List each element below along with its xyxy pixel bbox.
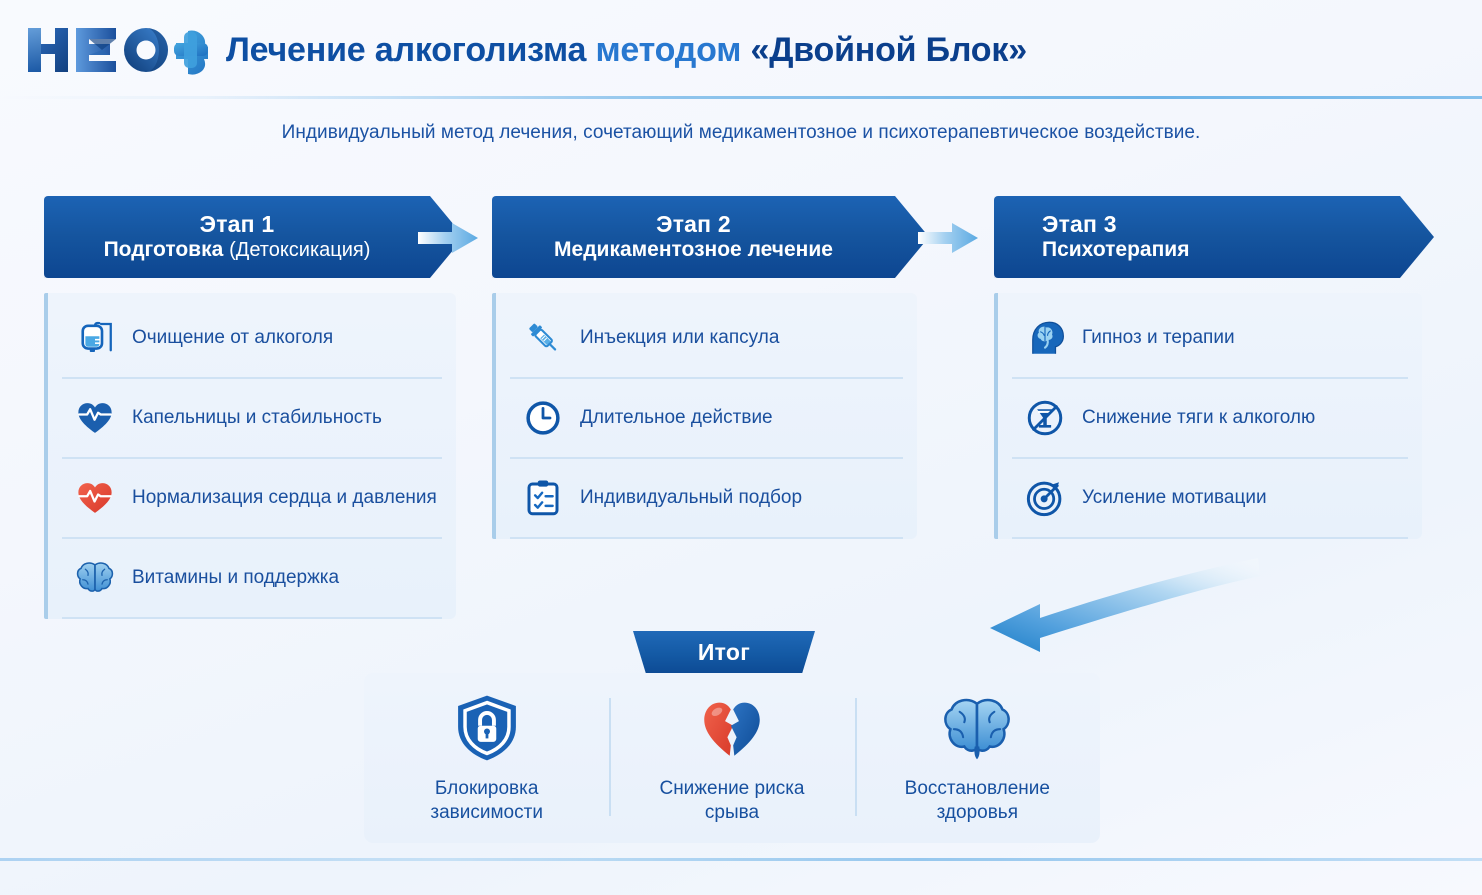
neo-plus-logo xyxy=(24,22,208,78)
feature-item: Инъекция или капсула xyxy=(510,299,903,379)
header-divider xyxy=(0,96,1482,99)
feature-label: Очищение от алкоголя xyxy=(132,327,333,350)
result-item-label: Восстановление здоровья xyxy=(905,777,1050,826)
stage-name-bold-1: Подготовка xyxy=(104,238,224,261)
result-label-line-2: здоровья xyxy=(905,801,1050,825)
feature-item: Очищение от алкоголя xyxy=(62,299,442,379)
bottom-divider xyxy=(0,858,1482,861)
stage-body-2: Инъекция или капсула Длительное действие xyxy=(492,293,917,539)
stage-header-3: Этап 3 Психотерапия xyxy=(994,196,1434,278)
clock-icon xyxy=(522,397,564,439)
stage-body-3: Гипноз и терапии Снижение тяги к алкогол… xyxy=(994,293,1422,539)
stage-body-1: Очищение от алкоголя Капельницы и стабил… xyxy=(44,293,456,619)
result-label-line-2: срыва xyxy=(659,801,804,825)
brain-icon xyxy=(940,691,1014,765)
result-label-line-1: Восстановление xyxy=(905,777,1050,801)
iv-drip-icon xyxy=(74,317,116,359)
heart-pulse-red-icon xyxy=(74,477,116,519)
stage-name-3: Психотерапия xyxy=(1042,238,1189,262)
result-label-line-1: Блокировка xyxy=(430,777,543,801)
feature-label: Гипноз и терапии xyxy=(1082,327,1235,350)
brain-icon xyxy=(74,557,116,599)
arrow-right-icon xyxy=(418,221,480,255)
title-part-3: «Двойной Блок» xyxy=(751,31,1027,69)
heart-pulse-blue-icon xyxy=(74,397,116,439)
feature-label: Инъекция или капсула xyxy=(580,327,779,350)
feature-label: Капельницы и стабильность xyxy=(132,407,382,430)
syringe-icon xyxy=(522,317,564,359)
feature-label: Длительное действие xyxy=(580,407,773,430)
feature-item: Усиление мотивации xyxy=(1012,459,1408,539)
result-tab-label: Итог xyxy=(633,631,815,673)
stage-name-light-1: (Детоксикация) xyxy=(229,239,370,261)
title-part-2: методом xyxy=(595,31,741,69)
stage-name-bold-3: Психотерапия xyxy=(1042,238,1189,261)
stage-name-1: Подготовка (Детоксикация) xyxy=(104,238,371,262)
stage-number-1: Этап 1 xyxy=(200,212,275,238)
no-alcohol-glass-icon xyxy=(1024,397,1066,439)
feature-item: Снижение тяги к алкоголю xyxy=(1012,379,1408,459)
feature-item: Индивидуальный подбор xyxy=(510,459,903,539)
feature-item: Витамины и поддержка xyxy=(62,539,442,619)
stage-header-2: Этап 2 Медикаментозное лечение xyxy=(492,196,929,278)
page-title: Лечение алкоголизма методом «Двойной Бло… xyxy=(226,33,1027,67)
arrow-right-icon xyxy=(918,221,980,255)
stage-header-1: Этап 1 Подготовка (Детоксикация) xyxy=(44,196,464,278)
curved-arrow-left-icon xyxy=(980,548,1260,668)
clipboard-checklist-icon xyxy=(522,477,564,519)
stage-number-2: Этап 2 xyxy=(656,212,731,238)
shield-lock-icon xyxy=(450,691,524,765)
result-panel: Блокировка зависимости Снижение риска ср… xyxy=(364,673,1100,843)
stage-number-3: Этап 3 xyxy=(1042,212,1117,238)
title-part-1: Лечение алкоголизма xyxy=(226,31,586,69)
feature-label: Витамины и поддержка xyxy=(132,567,339,590)
feature-label: Усиление мотивации xyxy=(1082,487,1267,510)
stages-section: Этап 1 Подготовка (Детоксикация) Очищени… xyxy=(0,196,1482,576)
page-subtitle: Индивидуальный метод лечения, сочетающий… xyxy=(0,122,1482,144)
stage-card-1: Этап 1 Подготовка (Детоксикация) Очищени… xyxy=(44,196,464,619)
result-item: Блокировка зависимости xyxy=(364,690,609,826)
feature-item: Капельницы и стабильность xyxy=(62,379,442,459)
stage-card-2: Этап 2 Медикаментозное лечение Инъ xyxy=(492,196,929,539)
feature-item: Нормализация сердца и давления xyxy=(62,459,442,539)
result-item-label: Блокировка зависимости xyxy=(430,777,543,826)
result-item: Снижение риска срыва xyxy=(609,690,854,826)
stage-name-bold-2: Медикаментозное лечение xyxy=(554,238,833,261)
result-tab: Итог xyxy=(633,631,815,673)
head-brain-icon xyxy=(1024,317,1066,359)
result-item-label: Снижение риска срыва xyxy=(659,777,804,826)
broken-heart-icon xyxy=(695,691,769,765)
stage-card-3: Этап 3 Психотерапия Гипноз и терапии xyxy=(994,196,1434,539)
feature-label: Снижение тяги к алкоголю xyxy=(1082,407,1315,430)
result-label-line-1: Снижение риска xyxy=(659,777,804,801)
target-arrow-icon xyxy=(1024,477,1066,519)
feature-item: Гипноз и терапии xyxy=(1012,299,1408,379)
page-header: Лечение алкоголизма методом «Двойной Бло… xyxy=(0,0,1482,100)
feature-label: Нормализация сердца и давления xyxy=(132,487,437,510)
result-item: Восстановление здоровья xyxy=(855,690,1100,826)
feature-item: Длительное действие xyxy=(510,379,903,459)
stage-name-2: Медикаментозное лечение xyxy=(554,238,833,262)
result-label-line-2: зависимости xyxy=(430,801,543,825)
feature-label: Индивидуальный подбор xyxy=(580,487,802,510)
